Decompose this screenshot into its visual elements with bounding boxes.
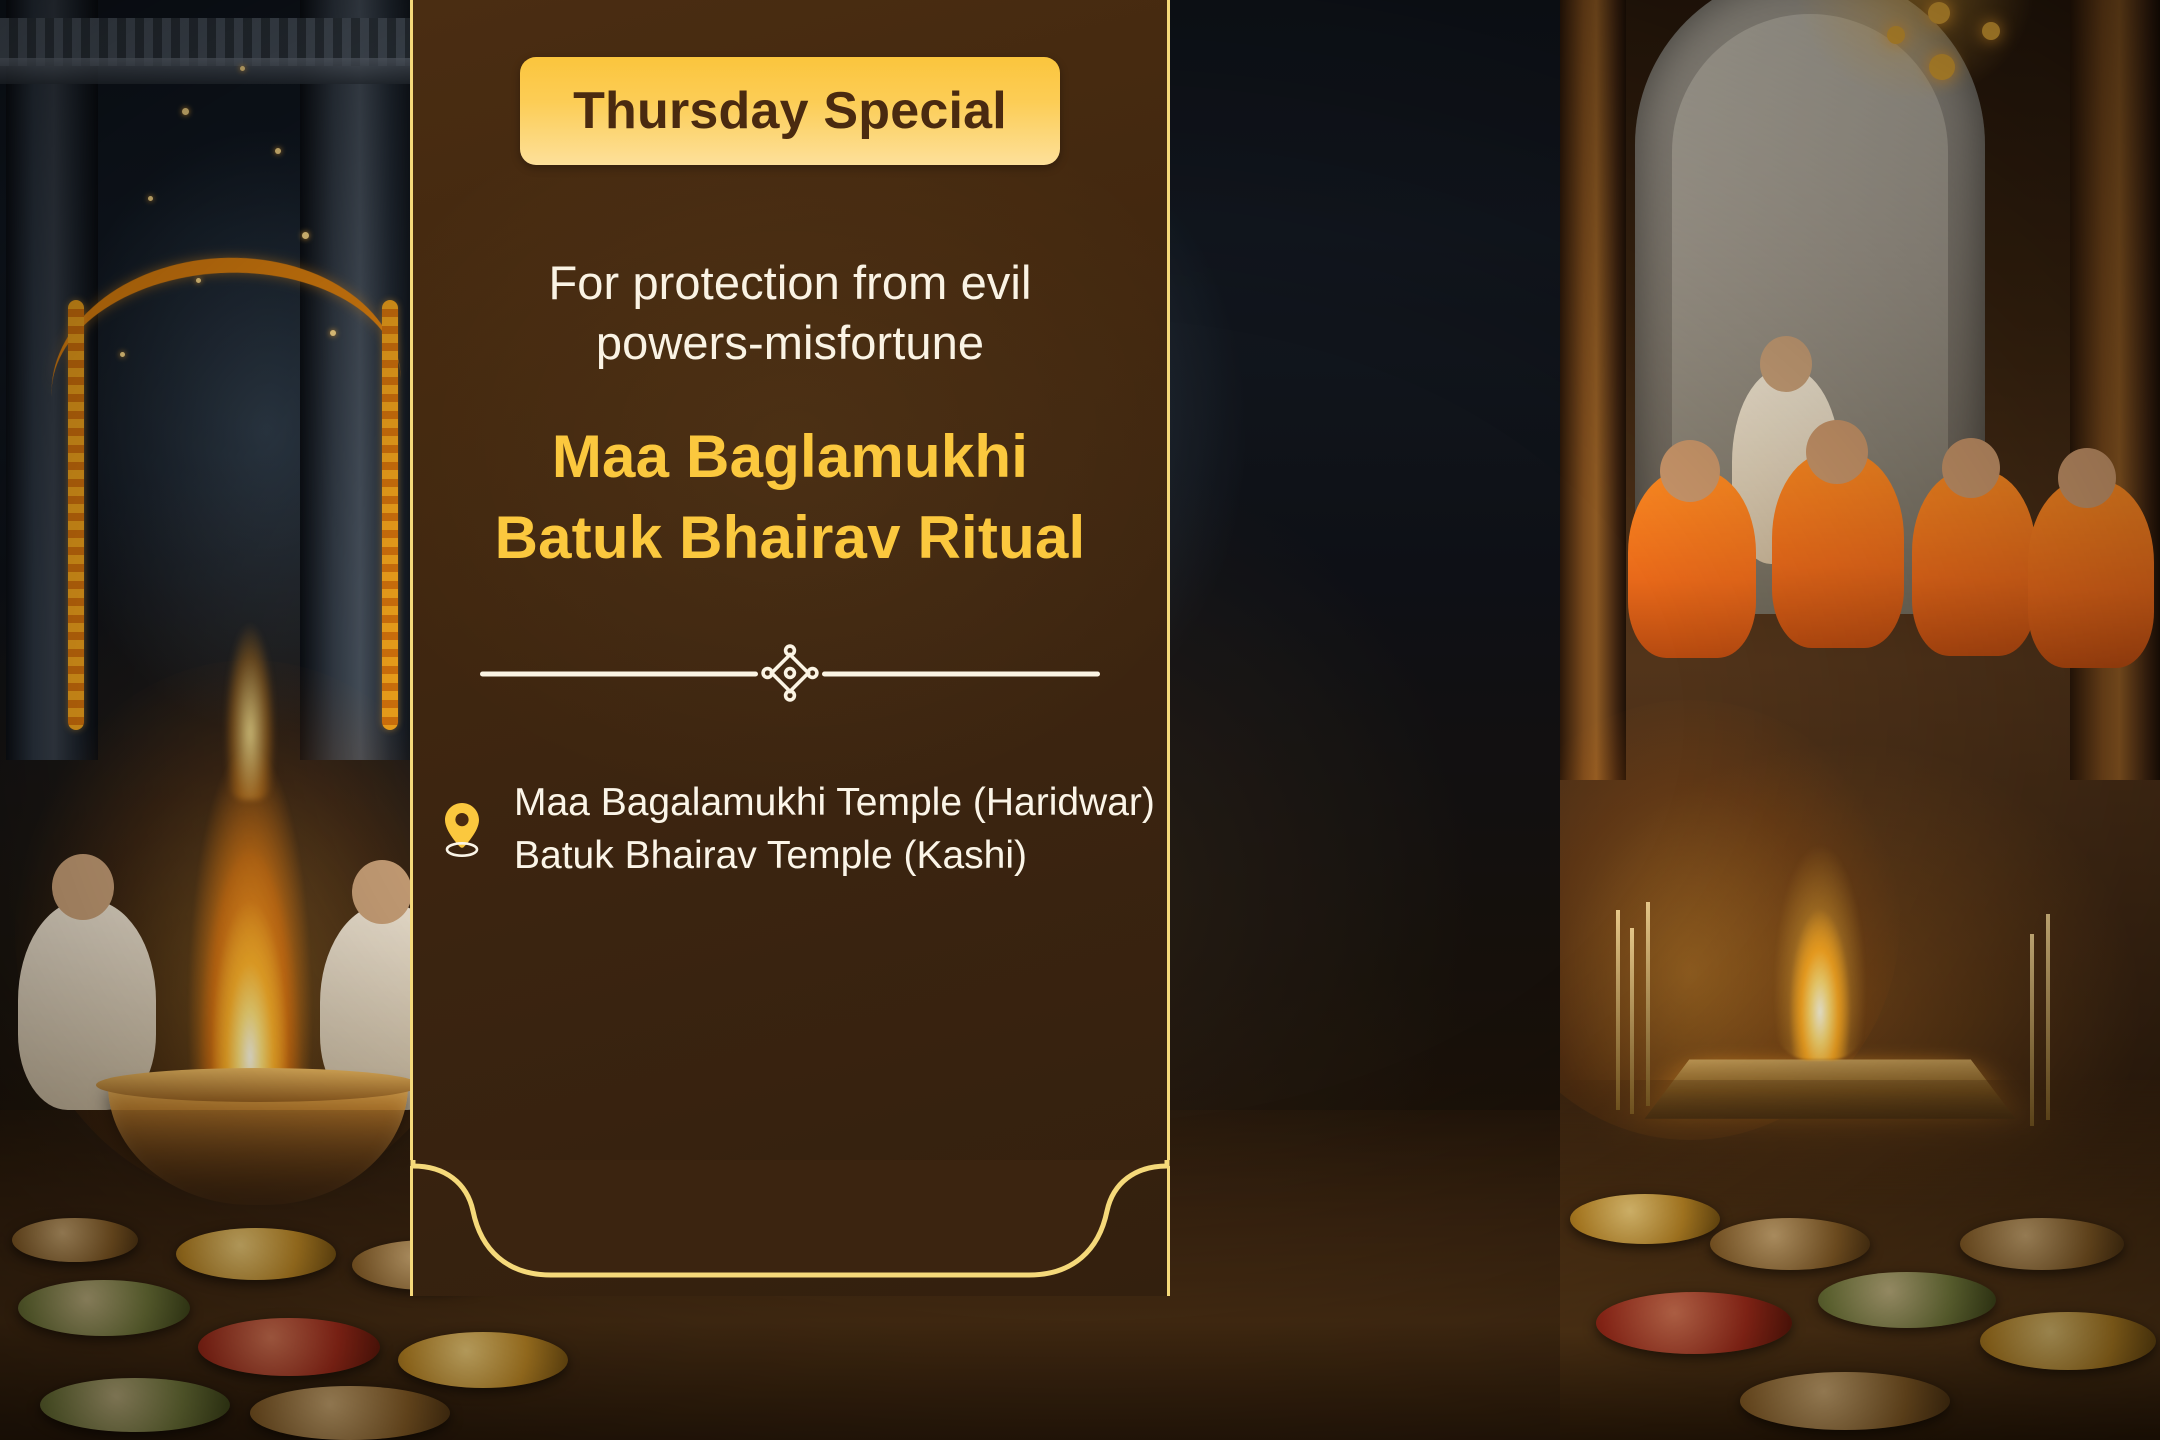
location-line-2: Batuk Bhairav Temple (Kashi) (514, 829, 1155, 882)
location-block: Maa Bagalamukhi Temple (Haridwar) Batuk … (440, 776, 1140, 882)
divider-rule-left (480, 672, 758, 677)
card-bottom-ornament (410, 1160, 1170, 1320)
subtitle-line-2: powers-misfortune (480, 313, 1100, 373)
ornamental-divider (480, 644, 1100, 704)
title-line-1: Maa Baglamukhi (460, 417, 1120, 497)
diamond-ornament-icon (756, 644, 824, 704)
badge-label: Thursday Special (573, 81, 1007, 141)
card-content: Thursday Special For protection from evi… (410, 0, 1170, 1296)
ritual-info-card: Thursday Special For protection from evi… (410, 0, 1170, 1296)
location-line-1: Maa Bagalamukhi Temple (Haridwar) (514, 776, 1155, 829)
poster-canvas: Thursday Special For protection from evi… (0, 0, 2160, 1440)
location-pin-icon (440, 801, 484, 857)
background-right-photo (1560, 0, 2160, 1440)
divider-rule-right (822, 672, 1100, 677)
subtitle-line-1: For protection from evil (480, 253, 1100, 313)
thursday-special-badge[interactable]: Thursday Special (520, 57, 1060, 165)
card-title: Maa Baglamukhi Batuk Bhairav Ritual (460, 417, 1120, 578)
title-line-2: Batuk Bhairav Ritual (460, 498, 1120, 578)
card-subtitle: For protection from evil powers-misfortu… (480, 253, 1100, 373)
location-text: Maa Bagalamukhi Temple (Haridwar) Batuk … (514, 776, 1155, 882)
